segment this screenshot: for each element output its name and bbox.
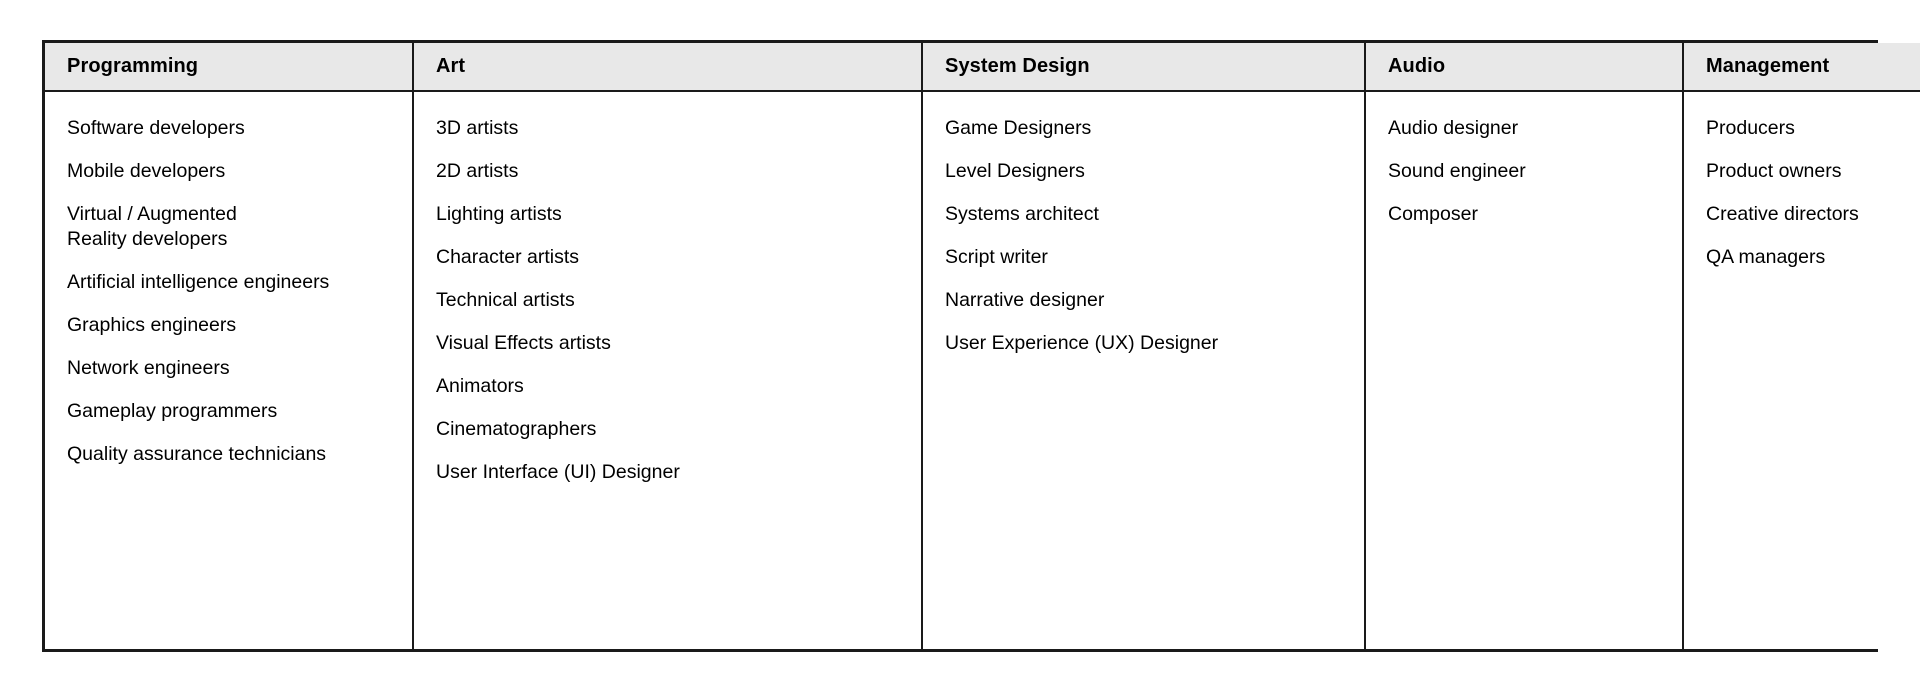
list-item: Gameplay programmers [67,399,412,424]
column-header-management: Management [1683,43,1920,91]
table-body: Software developers Mobile developers Vi… [45,91,1920,649]
table-cell-programming: Software developers Mobile developers Vi… [45,91,413,649]
table-cell-management: Producers Product owners Creative direct… [1683,91,1920,649]
list-item: User Interface (UI) Designer [436,460,921,485]
list-item: Composer [1388,202,1682,227]
list-item: QA managers [1706,245,1920,270]
list-item: Game Designers [945,116,1364,141]
table-cell-system-design: Game Designers Level Designers Systems a… [922,91,1365,649]
list-item: Graphics engineers [67,313,412,338]
roles-table-container: Programming Art System Design Audio Mana… [42,40,1878,652]
table-cell-audio: Audio designer Sound engineer Composer [1365,91,1683,649]
list-item: Script writer [945,245,1364,270]
list-item: Animators [436,374,921,399]
list-item: Artificial intelligence engineers [67,270,412,295]
column-header-art: Art [413,43,922,91]
game-development-roles-table: Programming Art System Design Audio Mana… [45,43,1920,649]
list-item: Sound engineer [1388,159,1682,184]
list-item: Producers [1706,116,1920,141]
list-item: Systems architect [945,202,1364,227]
list-item: Level Designers [945,159,1364,184]
list-item: Narrative designer [945,288,1364,313]
list-item: Creative directors [1706,202,1920,227]
column-header-audio: Audio [1365,43,1683,91]
list-item: Technical artists [436,288,921,313]
list-item: 2D artists [436,159,921,184]
table-body-row: Software developers Mobile developers Vi… [45,91,1920,649]
list-item: Quality assurance technicians [67,442,412,467]
list-item: Character artists [436,245,921,270]
table-header-row: Programming Art System Design Audio Mana… [45,43,1920,91]
table-header-row-group: Programming Art System Design Audio Mana… [45,43,1920,91]
list-item: Software developers [67,116,412,141]
table-cell-art: 3D artists 2D artists Lighting artists C… [413,91,922,649]
list-item: 3D artists [436,116,921,141]
list-item: Virtual / Augmented Reality developers [67,202,412,252]
list-item: Network engineers [67,356,412,381]
column-header-programming: Programming [45,43,413,91]
list-item: User Experience (UX) Designer [945,331,1364,356]
list-item: Visual Effects artists [436,331,921,356]
list-item: Lighting artists [436,202,921,227]
list-item: Cinematographers [436,417,921,442]
list-item: Product owners [1706,159,1920,184]
list-item: Audio designer [1388,116,1682,141]
list-item: Mobile developers [67,159,412,184]
column-header-system-design: System Design [922,43,1365,91]
